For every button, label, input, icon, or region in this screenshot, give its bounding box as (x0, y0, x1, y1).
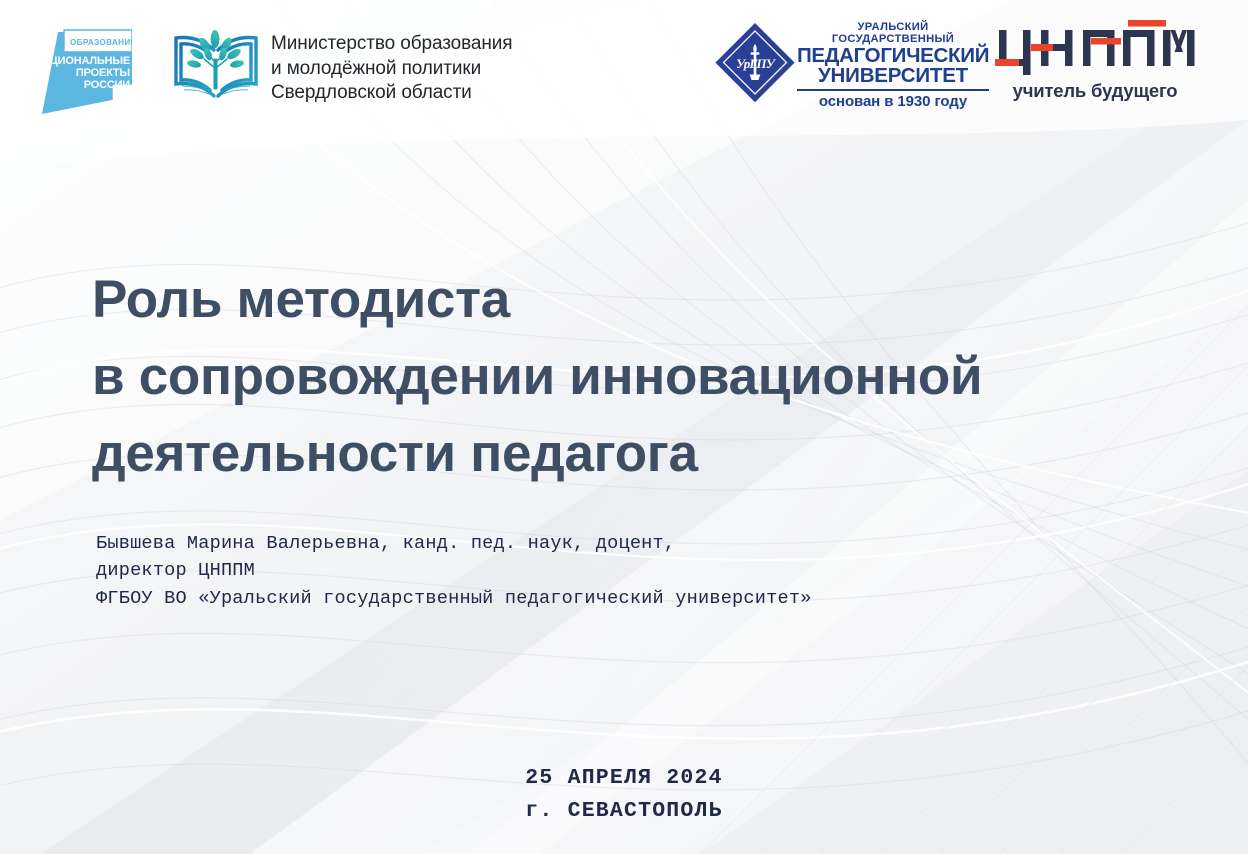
cnppm-tagline: учитель будущего (995, 81, 1195, 101)
title-line-2: в сопровождении инновационной (92, 339, 1102, 416)
author-position: директор ЦНППМ (96, 557, 812, 584)
svg-text:РОССИИ: РОССИИ (84, 79, 131, 91)
author-block: Бывшева Марина Валерьевна, канд. пед. на… (96, 530, 812, 612)
author-affiliation: ФГБОУ ВО «Уральский государственный педа… (96, 585, 812, 612)
urgpu-wordmark: УРАЛЬСКИЙ ГОСУДАРСТВЕННЫЙ ПЕДАГОГИЧЕСКИЙ… (797, 22, 989, 112)
slide-title: Роль методиста в сопровождении инновацио… (92, 262, 1102, 493)
svg-text:НАЦИОНАЛЬНЫЕ: НАЦИОНАЛЬНЫЕ (36, 55, 130, 67)
svg-text:ОБРАЗОВАНИЕ: ОБРАЗОВАНИЕ (70, 38, 132, 47)
event-date: 25 АПРЕЛЯ 2024 (0, 762, 1248, 795)
cnppm-mark-icon (995, 18, 1195, 80)
ministry-name: Министерство образования и молодёжной по… (271, 32, 512, 106)
urgpu-line-4: основан в 1930 году (797, 91, 989, 112)
svg-text:ПРОЕКТЫ: ПРОЕКТЫ (76, 67, 130, 79)
slide-header: ОБРАЗОВАНИЕ НАЦИОНАЛЬНЫЕ ПРОЕКТЫ РОССИИ (0, 0, 1248, 128)
urgpu-line-2: ПЕДАГОГИЧЕСКИЙ (797, 46, 989, 67)
event-date-place: 25 АПРЕЛЯ 2024 г. СЕВАСТОПОЛЬ (0, 762, 1248, 827)
urgpu-line-1: УРАЛЬСКИЙ ГОСУДАРСТВЕННЫЙ (797, 22, 989, 46)
title-line-3: деятельности педагога (92, 416, 1102, 493)
title-line-1: Роль методиста (92, 262, 1102, 339)
open-book-tree-emblem (168, 26, 264, 102)
national-projects-russia-logo: ОБРАЗОВАНИЕ НАЦИОНАЛЬНЫЕ ПРОЕКТЫ РОССИИ (36, 22, 132, 122)
presentation-slide: ОБРАЗОВАНИЕ НАЦИОНАЛЬНЫЕ ПРОЕКТЫ РОССИИ (0, 0, 1248, 854)
urgpu-line-3: УНИВЕРСИТЕТ (797, 66, 989, 91)
cnppm-logo: учитель будущего (995, 18, 1195, 101)
urgpu-diamond-torch-emblem: УрГПУ (712, 18, 798, 114)
svg-text:УрГПУ: УрГПУ (736, 56, 777, 71)
ministry-line-2: и молодёжной политики (271, 57, 512, 82)
ministry-line-1: Министерство образования (271, 32, 512, 57)
ministry-line-3: Свердловской области (271, 81, 512, 106)
author-name-and-degree: Бывшева Марина Валерьевна, канд. пед. на… (96, 530, 812, 557)
event-place: г. СЕВАСТОПОЛЬ (0, 795, 1248, 828)
